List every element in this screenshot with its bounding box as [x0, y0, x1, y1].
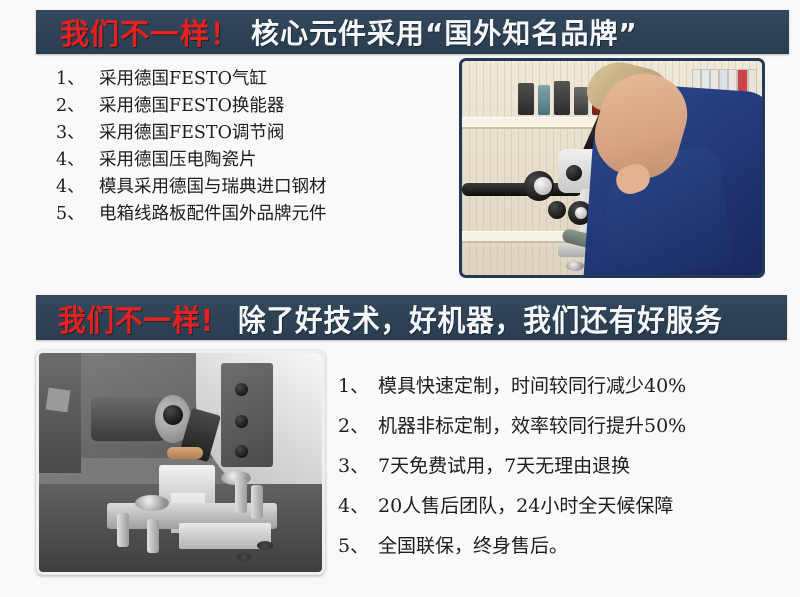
- list-item-text: 模具采用德国与瑞典进口钢材: [99, 174, 327, 201]
- list-item-number: 3、: [56, 120, 99, 147]
- list-item-text: 采用德国FESTO气缸: [99, 66, 267, 93]
- list-item-text: 电箱线路板配件国外品牌元件: [99, 201, 327, 228]
- section-one-banner: 我们不一样！ 核心元件采用“国外知名品牌”: [36, 10, 789, 54]
- list-item: 1、采用德国FESTO气缸: [56, 66, 327, 93]
- promo-page: 我们不一样！ 核心元件采用“国外知名品牌” 1、采用德国FESTO气缸 2、采用…: [0, 0, 800, 597]
- list-item-number: 5、: [338, 526, 378, 566]
- list-item: 3、7天免费试用，7天无理由退换: [338, 446, 686, 486]
- list-item: 2、采用德国FESTO换能器: [56, 93, 327, 120]
- section-two-banner-text: 除了好技术，好机器，我们还有好服务: [238, 296, 723, 340]
- list-item-text: 机器非标定制，效率较同行提升50%: [378, 406, 686, 446]
- list-item: 5、全国联保，终身售后。: [338, 526, 686, 566]
- list-item-text: 采用德国压电陶瓷片: [99, 147, 257, 174]
- list-item-number: 3、: [338, 446, 378, 486]
- list-item-number: 1、: [56, 66, 99, 93]
- list-item-text: 7天免费试用，7天无理由退换: [378, 446, 630, 486]
- list-item-text: 全国联保，终身售后。: [378, 526, 568, 566]
- section-one-feature-list: 1、采用德国FESTO气缸 2、采用德国FESTO换能器 3、采用德国FESTO…: [56, 66, 327, 228]
- section-two-service-list: 1、模具快速定制，时间较同行减少40% 2、机器非标定制，效率较同行提升50% …: [338, 366, 686, 566]
- list-item-number: 4、: [56, 174, 99, 201]
- list-item-text: 采用德国FESTO调节阀: [99, 120, 284, 147]
- section-one-banner-highlight: 我们不一样！: [60, 11, 240, 53]
- list-item: 4、模具采用德国与瑞典进口钢材: [56, 174, 327, 201]
- list-item-number: 5、: [56, 201, 99, 228]
- list-item-text: 采用德国FESTO换能器: [99, 93, 284, 120]
- list-item: 1、模具快速定制，时间较同行减少40%: [338, 366, 686, 406]
- machine-closeup-photo: [36, 350, 325, 575]
- microscope-inspection-photo: [459, 58, 765, 278]
- list-item-text: 模具快速定制，时间较同行减少40%: [378, 366, 686, 406]
- list-item-number: 4、: [338, 486, 378, 526]
- list-item: 4、采用德国压电陶瓷片: [56, 147, 327, 174]
- list-item-text: 20人售后团队，24小时全天候保障: [378, 486, 673, 526]
- list-item: 5、电箱线路板配件国外品牌元件: [56, 201, 327, 228]
- section-one-banner-text: 核心元件采用“国外知名品牌”: [251, 12, 638, 52]
- list-item-number: 2、: [56, 93, 99, 120]
- list-item: 3、采用德国FESTO调节阀: [56, 120, 327, 147]
- list-item-number: 2、: [338, 406, 378, 446]
- list-item: 2、机器非标定制，效率较同行提升50%: [338, 406, 686, 446]
- section-two-banner-highlight: 我们不一样!: [58, 296, 214, 340]
- list-item-number: 1、: [338, 366, 378, 406]
- list-item-number: 4、: [56, 147, 99, 174]
- list-item: 4、20人售后团队，24小时全天候保障: [338, 486, 686, 526]
- section-two-banner: 我们不一样! 除了好技术，好机器，我们还有好服务: [36, 295, 787, 340]
